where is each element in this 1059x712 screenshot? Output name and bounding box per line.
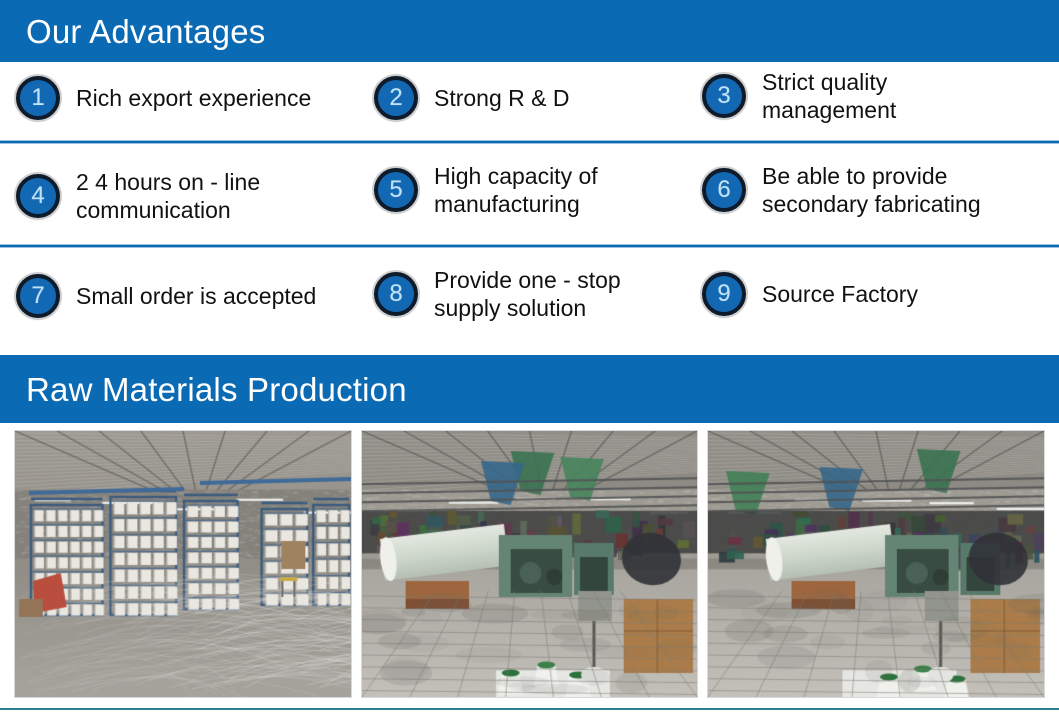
row-divider-1 bbox=[0, 140, 1059, 144]
section-header-raw-materials: Raw Materials Production bbox=[0, 355, 1059, 423]
advantage-label-3: Strict quality management bbox=[746, 68, 896, 124]
advantage-label-7: Small order is accepted bbox=[60, 282, 316, 310]
advantage-row-1: 1 Rich export experience 2 Strong R & D … bbox=[0, 62, 1059, 140]
advantage-number-badge-3: 3 bbox=[702, 74, 746, 118]
advantage-item-2: 2 Strong R & D bbox=[374, 76, 570, 120]
advantage-number-badge-7: 7 bbox=[16, 274, 60, 318]
advantage-item-9: 9 Source Factory bbox=[702, 272, 918, 316]
advantage-number-badge-2: 2 bbox=[374, 76, 418, 120]
section-title-advantages: Our Advantages bbox=[0, 15, 265, 48]
factory-photo-2 bbox=[361, 430, 699, 698]
factory-photo-3-image bbox=[708, 431, 1044, 697]
factory-photo-1 bbox=[14, 430, 352, 698]
advantage-label-8: Provide one - stop supply solution bbox=[418, 266, 621, 322]
advantage-label-1: Rich export experience bbox=[60, 84, 311, 112]
advantage-number-badge-6: 6 bbox=[702, 168, 746, 212]
advantage-label-6: Be able to provide secondary fabricating bbox=[746, 162, 981, 218]
factory-photo-3 bbox=[707, 430, 1045, 698]
bottom-rule bbox=[0, 708, 1059, 710]
advantage-item-1: 1 Rich export experience bbox=[16, 76, 311, 120]
advantages-page: Our Advantages 1 Rich export experience … bbox=[0, 0, 1059, 712]
factory-photo-1-image bbox=[15, 431, 351, 697]
advantage-row-2: 4 2 4 hours on - line communication 5 Hi… bbox=[0, 148, 1059, 244]
advantage-item-5: 5 High capacity of manufacturing bbox=[374, 162, 598, 218]
advantage-number-badge-4: 4 bbox=[16, 174, 60, 218]
factory-photo-2-image bbox=[362, 431, 698, 697]
advantage-item-8: 8 Provide one - stop supply solution bbox=[374, 266, 621, 322]
advantage-row-3: 7 Small order is accepted 8 Provide one … bbox=[0, 256, 1059, 344]
advantage-item-3: 3 Strict quality management bbox=[702, 68, 896, 124]
advantage-label-2: Strong R & D bbox=[418, 84, 570, 112]
advantage-number-badge-1: 1 bbox=[16, 76, 60, 120]
advantage-item-6: 6 Be able to provide secondary fabricati… bbox=[702, 162, 981, 218]
advantage-number-badge-5: 5 bbox=[374, 168, 418, 212]
advantage-item-7: 7 Small order is accepted bbox=[16, 274, 316, 318]
advantage-number-badge-8: 8 bbox=[374, 272, 418, 316]
advantage-label-9: Source Factory bbox=[746, 280, 918, 308]
advantage-label-4: 2 4 hours on - line communication bbox=[60, 168, 260, 224]
row-divider-2 bbox=[0, 244, 1059, 248]
section-title-raw-materials: Raw Materials Production bbox=[0, 373, 407, 406]
advantage-number-badge-9: 9 bbox=[702, 272, 746, 316]
advantage-label-5: High capacity of manufacturing bbox=[418, 162, 598, 218]
section-header-advantages: Our Advantages bbox=[0, 0, 1059, 62]
factory-photo-strip bbox=[0, 430, 1059, 702]
advantage-item-4: 4 2 4 hours on - line communication bbox=[16, 168, 260, 224]
